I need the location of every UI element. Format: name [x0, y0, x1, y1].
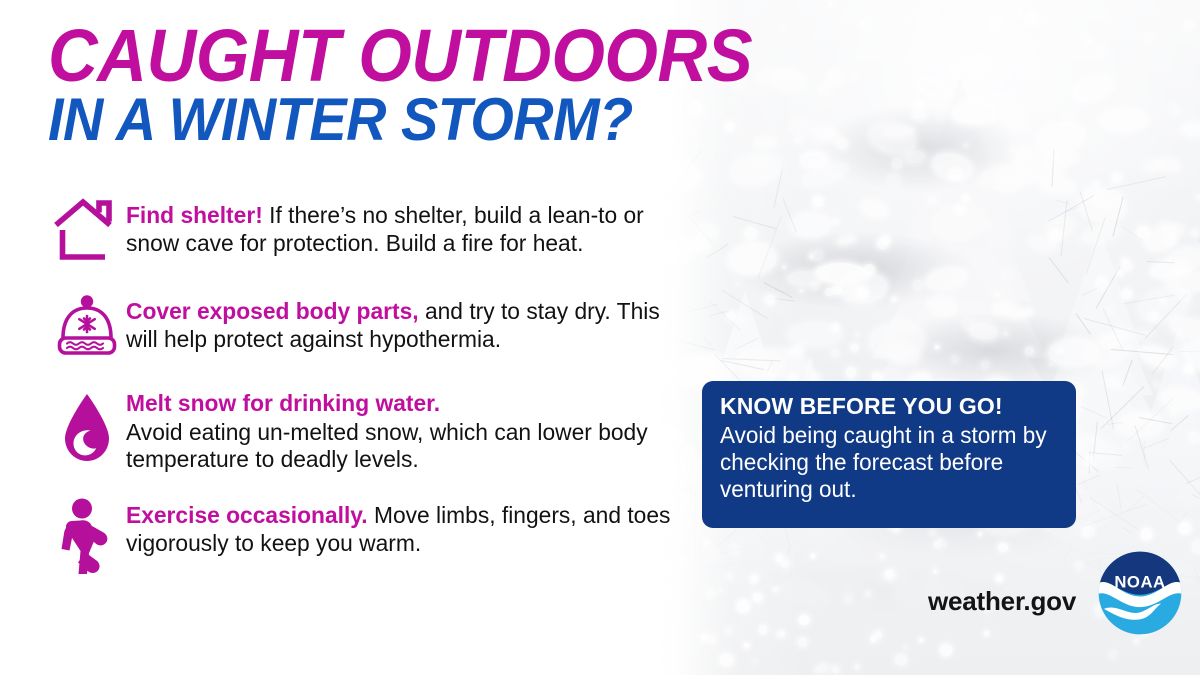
headline-line-2: IN A WINTER STORM?: [48, 92, 752, 147]
tip-text: Exercise occasionally. Move limbs, finge…: [126, 496, 691, 557]
tip-lead: Find shelter!: [126, 202, 263, 228]
tip-cover-body-parts: Cover exposed body parts, and try to sta…: [48, 292, 708, 366]
tip-body: Avoid eating un-melted snow, which can l…: [126, 419, 648, 473]
tip-lead: Cover exposed body parts,: [126, 298, 419, 324]
callout-title: KNOW BEFORE YOU GO!: [720, 394, 1058, 419]
safety-tips-list: Find shelter! If there’s no shelter, bui…: [48, 196, 708, 570]
falling-snowflake: [664, 561, 671, 568]
falling-snowflake: [798, 637, 807, 646]
tip-find-shelter: Find shelter! If there’s no shelter, bui…: [48, 196, 708, 270]
running-person-icon: [48, 496, 126, 570]
tip-text: Cover exposed body parts, and try to sta…: [126, 292, 691, 353]
winter-hat-icon: [48, 292, 126, 366]
falling-snowflake: [642, 655, 654, 667]
falling-snowflake: [773, 587, 778, 592]
headline-line-1: CAUGHT OUTDOORS: [48, 22, 752, 90]
know-before-you-go-callout: KNOW BEFORE YOU GO! Avoid being caught i…: [702, 381, 1076, 528]
falling-snowflake: [781, 559, 789, 567]
falling-snowflake: [638, 582, 645, 589]
falling-snowflake: [663, 546, 667, 550]
falling-snowflake: [832, 666, 839, 673]
water-drop-icon: [48, 390, 126, 464]
falling-snowflake: [880, 555, 884, 559]
tip-text: Melt snow for drinking water.Avoid eatin…: [126, 390, 691, 474]
falling-snowflake: [751, 575, 758, 582]
tip-text: Find shelter! If there’s no shelter, bui…: [126, 196, 691, 257]
infographic-canvas: CAUGHT OUTDOORS IN A WINTER STORM? Find …: [0, 0, 1200, 675]
page-title: CAUGHT OUTDOORS IN A WINTER STORM?: [48, 22, 805, 147]
tip-exercise: Exercise occasionally. Move limbs, finge…: [48, 496, 708, 570]
noaa-logo-text: NOAA: [1114, 573, 1165, 592]
house-icon: [48, 196, 126, 270]
callout-body: Avoid being caught in a storm by checkin…: [720, 422, 1051, 502]
falling-snowflake: [895, 654, 906, 665]
noaa-logo[interactable]: NOAA: [1096, 549, 1184, 637]
falling-snowflake: [940, 644, 952, 656]
falling-snowflake: [666, 589, 670, 593]
tip-lead: Exercise occasionally.: [126, 502, 368, 528]
falling-snowflake: [620, 562, 624, 566]
weather-gov-url[interactable]: weather.gov: [928, 586, 1076, 617]
tip-lead: Melt snow for drinking water.: [126, 390, 691, 418]
falling-snowflake: [871, 636, 877, 642]
tip-melt-snow: Melt snow for drinking water.Avoid eatin…: [48, 390, 708, 474]
falling-snowflake: [885, 570, 893, 578]
